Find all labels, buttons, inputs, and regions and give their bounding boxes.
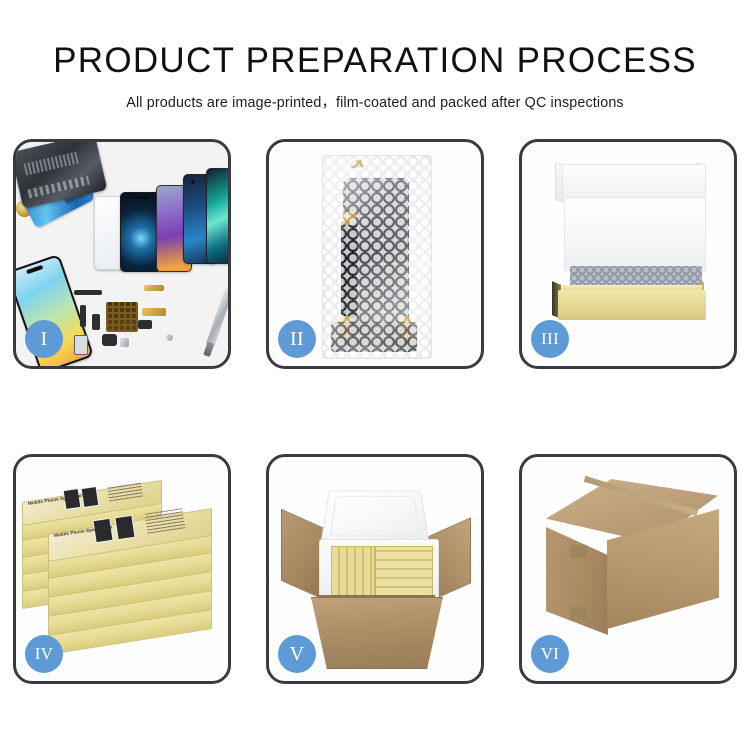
process-step-2: II [266, 139, 484, 369]
vibrator-part-icon [166, 334, 173, 341]
bubble-wrap-bag-image [322, 155, 432, 359]
box-lid-back-image [562, 164, 706, 201]
screwdriver-tool-icon [205, 288, 228, 348]
page-title: PRODUCT PREPARATION PROCESS [0, 0, 750, 80]
carton-tape-patch-upper [570, 545, 587, 558]
screen-bottom-shadow [331, 322, 417, 352]
product-preparation-infographic: PRODUCT PREPARATION PROCESS All products… [0, 0, 750, 750]
wrapped-flex-cable-image [341, 220, 357, 318]
process-step-6: VI [519, 454, 737, 684]
process-step-4: Mobile Phone Spare Parts Mobile Phone Sp… [13, 454, 231, 684]
step-5-badge: V [278, 635, 316, 673]
foam-lid-image [320, 491, 429, 544]
flex-cable-part-icon [74, 290, 102, 295]
logic-board-contacts-image [106, 302, 138, 332]
antenna-flex-part-icon [142, 308, 166, 316]
step-4-badge: IV [25, 635, 63, 673]
step-3-badge: III [531, 320, 569, 358]
step-2-badge: II [278, 320, 316, 358]
process-step-3: III [519, 139, 737, 369]
speaker-part-icon [138, 320, 152, 329]
process-step-5: V [266, 454, 484, 684]
process-step-1: I [13, 139, 231, 369]
phone-teal-swirl-image [206, 168, 228, 264]
header: PRODUCT PREPARATION PROCESS All products… [0, 0, 750, 112]
front-lid-phone-art-2 [114, 515, 135, 540]
yellow-boxes-group-left [331, 546, 375, 596]
gold-contact-upper-icon [343, 212, 356, 225]
yellow-box-front-image [558, 290, 706, 320]
white-foam-sheet-image [564, 197, 706, 271]
gold-connector-part-icon [144, 285, 164, 291]
step-6-badge: VI [531, 635, 569, 673]
carton-tape-patch-lower [570, 607, 587, 620]
process-steps-grid: I II [13, 139, 737, 684]
yellow-boxes-group-right [375, 546, 433, 596]
gold-tape-tab-icon [351, 160, 363, 168]
carton-body-image [311, 597, 443, 669]
earpiece-part-icon [102, 334, 117, 346]
step-1-badge: I [25, 320, 63, 358]
ribbon-cable-part-icon [80, 305, 86, 327]
camera-module-part-icon [92, 314, 100, 330]
screw-part-icon [120, 338, 129, 347]
page-subtitle: All products are image-printed，film-coat… [0, 80, 750, 112]
sim-tray-part-icon [74, 335, 88, 355]
